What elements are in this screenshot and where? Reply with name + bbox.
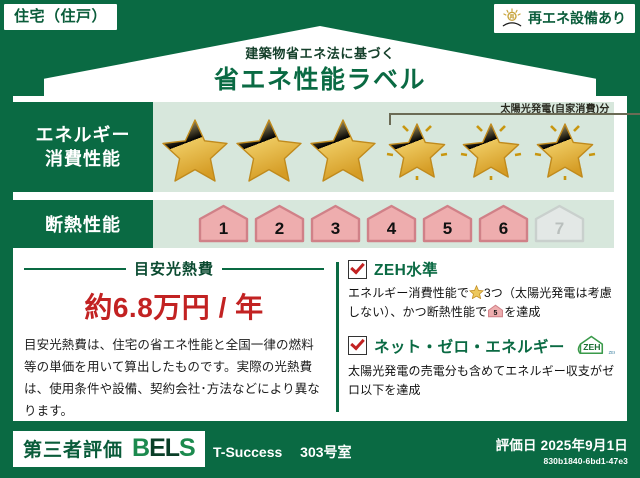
room-number: 303号室 <box>300 444 351 460</box>
property-info: T-Success 303号室 <box>213 442 352 462</box>
svg-text:再: 再 <box>510 14 515 21</box>
insulation-grade-2: 2 <box>253 204 306 244</box>
rule-right <box>222 268 324 270</box>
zeh-desc-part1: エネルギー消費性能で <box>348 286 469 300</box>
insulation-grade-number: 1 <box>197 219 250 239</box>
star-icon-solar <box>381 114 453 184</box>
zeh-level-title: ZEH水準 <box>374 258 438 280</box>
energy-performance-row: エネルギー 消費性能 太陽光発電(自家消費)分 <box>13 102 614 192</box>
label-footer: 第三者評価 BELS T-Success 303号室 評価日 2025年9月1日… <box>0 422 640 478</box>
zeh-logo-icon: ZEH ZEH <box>575 334 615 358</box>
insulation-grade-number: 6 <box>477 219 530 239</box>
insulation-grade-number: 7 <box>533 219 586 239</box>
utility-cost-title-text: 目安光熱費 <box>134 258 214 279</box>
star-icon-inline <box>469 285 484 299</box>
insulation-grade-number: 2 <box>253 219 306 239</box>
energy-label-line1: エネルギー <box>36 123 131 147</box>
energy-row-label: エネルギー 消費性能 <box>13 102 153 192</box>
insulation-label-text: 断熱性能 <box>45 211 121 237</box>
certification-zeh-level: ZEH水準 エネルギー消費性能で3つ（太陽光発電は考慮しない）、かつ断熱性能で5… <box>348 258 616 323</box>
bels-logo-plate: 第三者評価 BELS <box>13 431 205 467</box>
insulation-grade-6: 6 <box>477 204 530 244</box>
third-party-eval-label: 第三者評価 <box>23 435 123 462</box>
svg-text:5: 5 <box>494 310 498 317</box>
insulation-grade-4: 4 <box>365 204 418 244</box>
insulation-grade-scale: 1234567 <box>197 204 586 244</box>
evaluation-date: 評価日 2025年9月1日 <box>496 434 628 454</box>
rule-left <box>24 268 126 270</box>
utility-cost-title: 目安光熱費 <box>24 258 324 279</box>
star-icon-solar <box>455 114 527 184</box>
insulation-row-label: 断熱性能 <box>13 200 153 248</box>
certificate-id: 830b1840-6bd1-47e3 <box>496 456 628 466</box>
star-icon-filled <box>233 114 305 184</box>
label-title: 省エネ性能ラベル <box>0 60 640 96</box>
house-icon-inline: 5 <box>487 304 504 318</box>
renewable-badge-label: 再エネ設備あり <box>528 11 626 25</box>
insulation-grade-5: 5 <box>421 204 474 244</box>
insulation-grade-number: 5 <box>421 219 474 239</box>
net-zero-title: ネット・ゼロ・エネルギー <box>374 335 565 357</box>
utility-cost-block: 目安光熱費 約6.8万円 / 年 目安光熱費は、住宅の省エネ性能と全国一律の燃料… <box>24 258 324 423</box>
insulation-performance-row: 断熱性能 1234567 <box>13 200 614 248</box>
star-rating <box>159 114 601 184</box>
checkbox-checked-icon <box>348 260 367 279</box>
renewable-equipment-badge: 再 再エネ設備あり <box>494 4 635 33</box>
energy-stars-panel: 太陽光発電(自家消費)分 <box>153 102 614 192</box>
bels-letter-b: B <box>132 434 149 462</box>
energy-label-line2: 消費性能 <box>45 147 121 171</box>
zeh-level-header: ZEH水準 <box>348 258 616 280</box>
svg-text:ZEH: ZEH <box>583 342 600 352</box>
checkbox-checked-icon <box>348 336 367 355</box>
bels-letters-el: EL <box>149 434 179 462</box>
evaluation-date-block: 評価日 2025年9月1日 830b1840-6bd1-47e3 <box>496 434 628 466</box>
sun-icon: 再 <box>501 8 523 28</box>
net-zero-description: 太陽光発電の売電分も含めてエネルギー収支がゼロ以下を達成 <box>348 362 616 401</box>
utility-cost-note: 目安光熱費は、住宅の省エネ性能と全国一律の燃料等の単価を用いて算出したものです。… <box>24 335 324 423</box>
insulation-grades-panel: 1234567 <box>153 200 614 248</box>
bels-letter-s: S <box>179 434 195 462</box>
insulation-grade-1: 1 <box>197 204 250 244</box>
property-name: T-Success <box>213 444 282 460</box>
vertical-divider <box>336 262 339 412</box>
energy-performance-label: 住宅（住戸） 再 再エネ設備あり 建築物省エネ法に基づく 省エネ性能ラベル エネ… <box>0 0 640 478</box>
certification-block: ZEH水準 エネルギー消費性能で3つ（太陽光発電は考慮しない）、かつ断熱性能で5… <box>348 258 616 412</box>
insulation-grade-7: 7 <box>533 204 586 244</box>
star-icon-solar <box>529 114 601 184</box>
zeh-level-description: エネルギー消費性能で3つ（太陽光発電は考慮しない）、かつ断熱性能で5を達成 <box>348 284 616 323</box>
building-type-tag: 住宅（住戸） <box>4 4 117 30</box>
zeh-desc-part3: を達成 <box>504 305 540 319</box>
star-icon-filled <box>159 114 231 184</box>
insulation-grade-number: 4 <box>365 219 418 239</box>
svg-text:ZEH: ZEH <box>608 350 614 355</box>
certification-net-zero-energy: ネット・ゼロ・エネルギー ZEH ZEH 太陽光発電の売電分も含めてエネルギー収… <box>348 334 616 401</box>
insulation-grade-3: 3 <box>309 204 362 244</box>
net-zero-header: ネット・ゼロ・エネルギー ZEH ZEH <box>348 334 616 358</box>
bels-wordmark: BELS <box>132 436 195 461</box>
star-icon-filled <box>307 114 379 184</box>
utility-cost-value: 約6.8万円 / 年 <box>24 286 324 326</box>
insulation-grade-number: 3 <box>309 219 362 239</box>
